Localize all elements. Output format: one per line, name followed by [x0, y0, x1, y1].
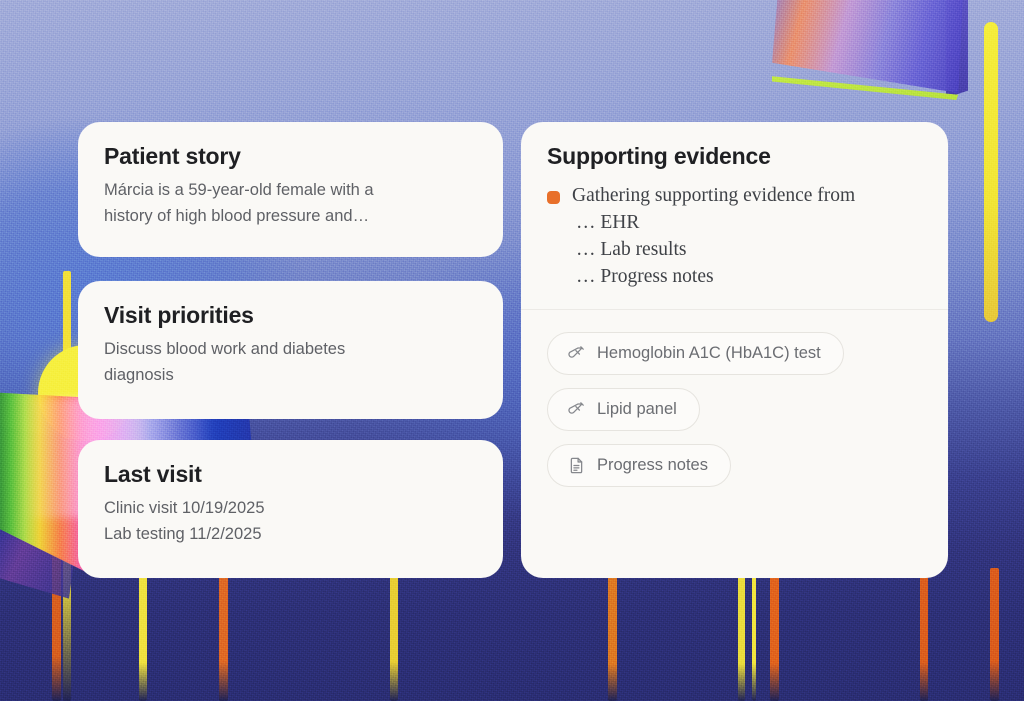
card-visit-priorities[interactable]: Visit priorities Discuss blood work and …	[78, 281, 503, 419]
chip-label: Progress notes	[597, 456, 708, 475]
card-body-line: history of high blood pressure and…	[104, 204, 434, 230]
card-title: Last visit	[104, 462, 477, 487]
test-tube-icon	[567, 344, 586, 363]
evidence-status-text: Gathering supporting evidence from … EHR…	[572, 183, 855, 291]
screen: Patient story Márcia is a 59-year-old fe…	[0, 0, 1024, 701]
decor-bar	[920, 572, 928, 701]
panel-header: Supporting evidence	[521, 122, 948, 169]
chip-progress-notes[interactable]: Progress notes	[547, 444, 731, 487]
chip-label: Lipid panel	[597, 400, 677, 419]
document-icon	[567, 456, 586, 475]
decor-bar	[219, 569, 228, 701]
decor-bar	[770, 575, 779, 701]
evidence-source-item: … Lab results	[572, 237, 855, 264]
test-tube-icon	[567, 400, 586, 419]
chip-hemoglobin-a1c-test[interactable]: Hemoglobin A1C (HbA1C) test	[547, 332, 844, 375]
decor-bar	[738, 576, 745, 701]
card-patient-story[interactable]: Patient story Márcia is a 59-year-old fe…	[78, 122, 503, 257]
card-title: Patient story	[104, 144, 477, 169]
decor-bar	[390, 570, 398, 701]
decor-bar	[990, 568, 999, 701]
card-body-line: Discuss blood work and diabetes	[104, 337, 434, 363]
panel-title: Supporting evidence	[547, 144, 922, 169]
chip-label: Hemoglobin A1C (HbA1C) test	[597, 344, 821, 363]
evidence-source-item: … EHR	[572, 210, 855, 237]
evidence-lead: Gathering supporting evidence from	[572, 183, 855, 210]
decor-bar	[752, 574, 756, 701]
yellow-rod-icon	[984, 22, 998, 322]
decor-bar	[608, 577, 617, 701]
card-body: Clinic visit 10/19/2025 Lab testing 11/2…	[104, 496, 434, 547]
card-body-line: diagnosis	[104, 363, 434, 389]
evidence-source-item: … Progress notes	[572, 264, 855, 291]
panel-supporting-evidence: Supporting evidence Gathering supporting…	[521, 122, 948, 578]
status-dot-icon	[547, 191, 560, 204]
card-body: Discuss blood work and diabetes diagnosi…	[104, 337, 434, 388]
evidence-status: Gathering supporting evidence from … EHR…	[521, 183, 948, 291]
card-body-line: Márcia is a 59-year-old female with a	[104, 178, 434, 204]
chip-lipid-panel[interactable]: Lipid panel	[547, 388, 700, 431]
card-title: Visit priorities	[104, 303, 477, 328]
decor-bar	[139, 573, 147, 701]
card-body-line: Clinic visit 10/19/2025	[104, 496, 434, 522]
card-body-line: Lab testing 11/2/2025	[104, 522, 434, 548]
evidence-chip-list: Hemoglobin A1C (HbA1C) test Lipid panel	[521, 310, 948, 487]
card-last-visit[interactable]: Last visit Clinic visit 10/19/2025 Lab t…	[78, 440, 503, 578]
card-body: Márcia is a 59-year-old female with a hi…	[104, 178, 434, 229]
